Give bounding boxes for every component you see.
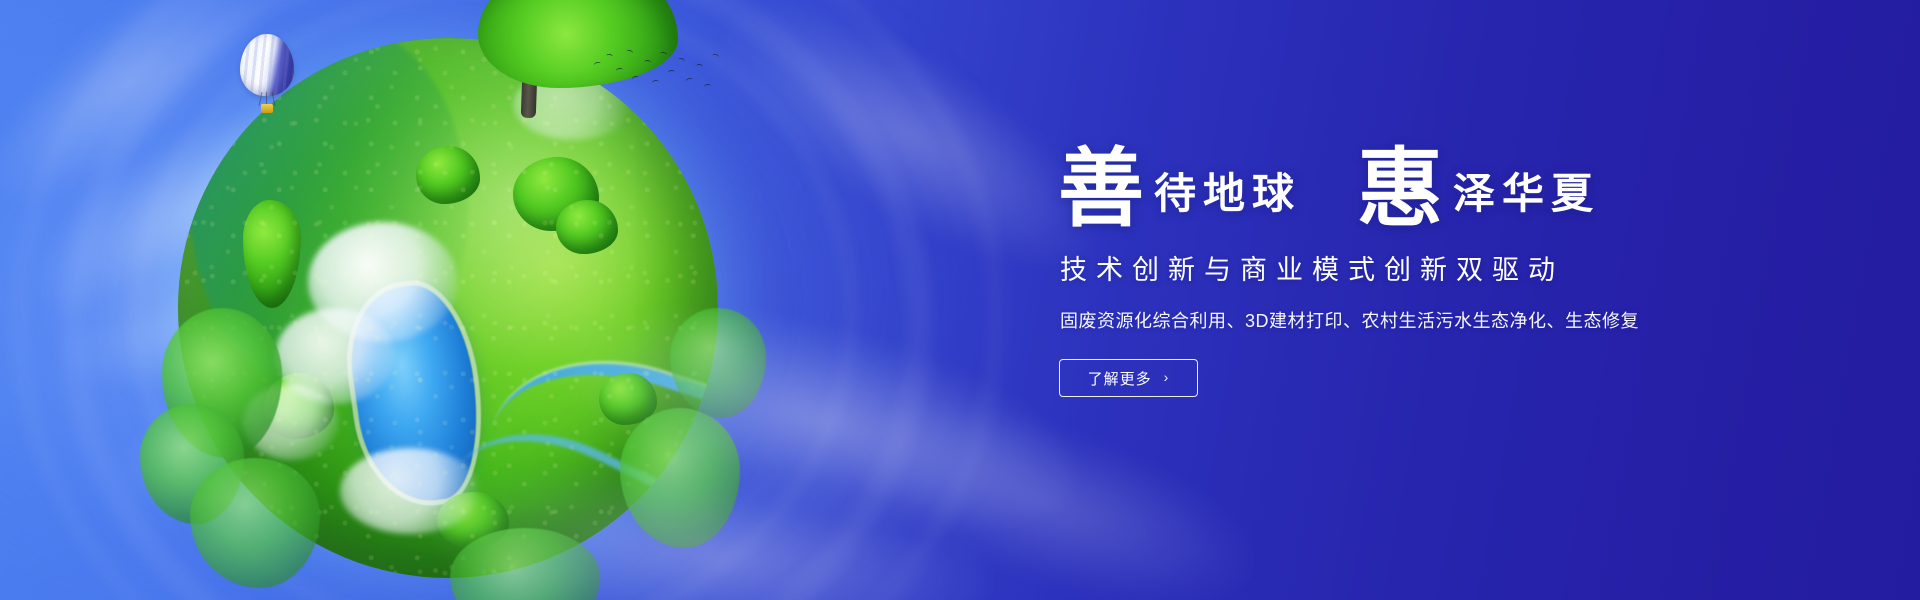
- cloud-icon: [308, 222, 458, 342]
- hero-content: 善 待地球 惠 泽华夏 技术创新与商业模式创新双驱动 固废资源化综合利用、3D建…: [1058, 140, 1818, 397]
- chevron-right-icon: ›: [1164, 370, 1170, 384]
- birds-flock-icon: [592, 48, 722, 96]
- learn-more-label: 了解更多: [1088, 368, 1152, 389]
- headline-lead-char-2: 惠: [1357, 146, 1443, 232]
- headline-rest-2: 泽华夏: [1443, 174, 1600, 226]
- page-description: 固废资源化综合利用、3D建材打印、农村生活污水生态净化、生态修复: [1060, 307, 1818, 333]
- hero-banner: 善 待地球 惠 泽华夏 技术创新与商业模式创新双驱动 固废资源化综合利用、3D建…: [0, 0, 1920, 600]
- tree-icon: [556, 200, 618, 254]
- tree-icon: [513, 157, 599, 231]
- cloud-icon: [275, 308, 395, 404]
- lake-icon: [342, 279, 490, 509]
- headline-lead-char-1: 善: [1058, 146, 1144, 232]
- page-subtitle: 技术创新与商业模式创新双驱动: [1060, 248, 1818, 287]
- balloon-envelope: [240, 34, 294, 96]
- cloud-icon: [340, 448, 480, 534]
- hot-air-balloon-icon: [240, 34, 294, 114]
- tree-icon: [416, 146, 480, 204]
- headline-rest-1: 待地球: [1144, 174, 1301, 226]
- balloon-basket: [261, 104, 273, 113]
- tree-icon: [243, 200, 301, 308]
- page-title: 善 待地球 惠 泽华夏: [1058, 140, 1818, 226]
- learn-more-button[interactable]: 了解更多 ›: [1059, 359, 1198, 397]
